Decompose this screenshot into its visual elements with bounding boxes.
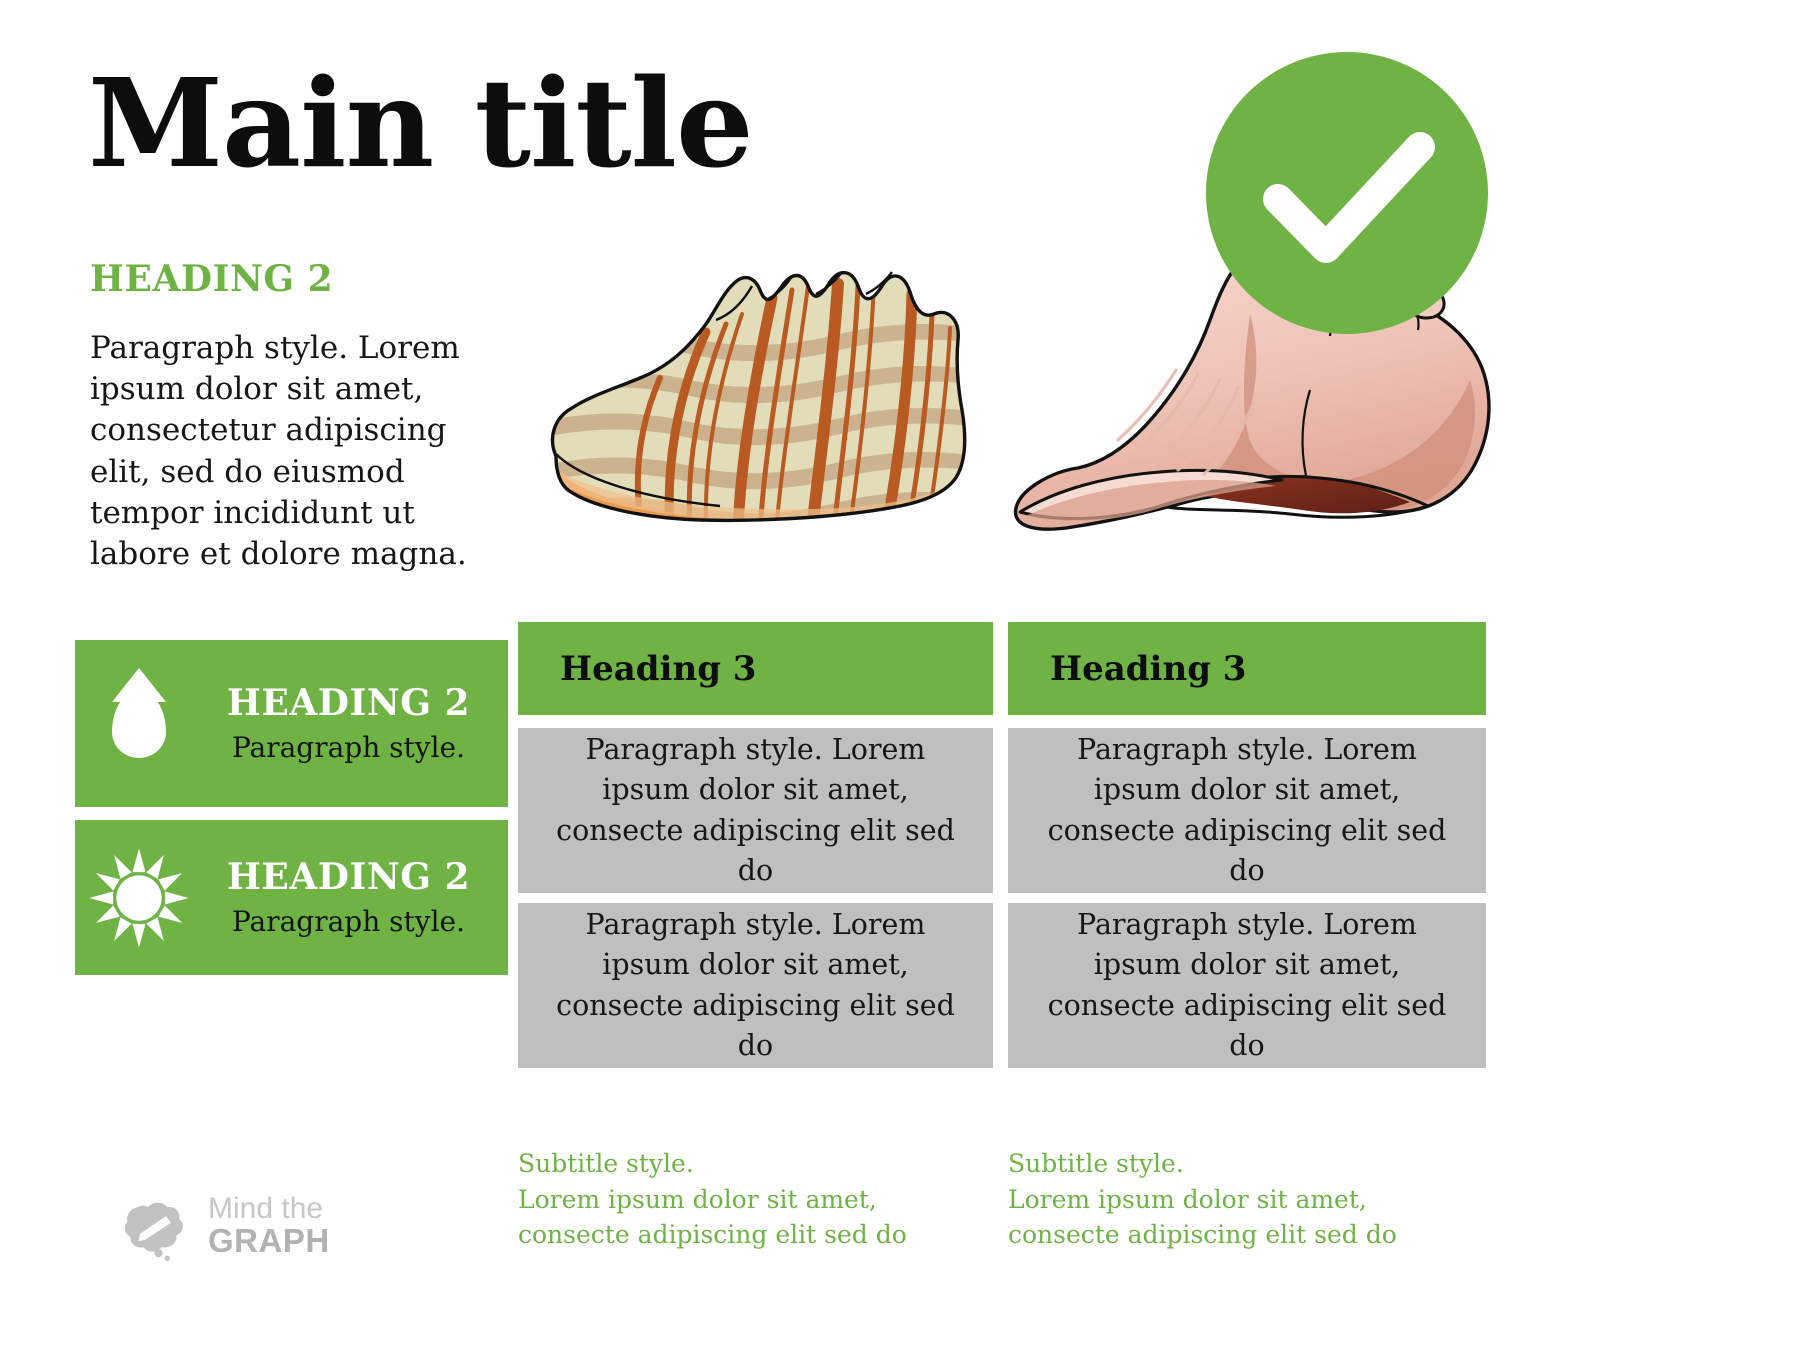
feature-text-group: HEADING 2 Paragraph style. bbox=[203, 857, 508, 937]
feature-heading: HEADING 2 bbox=[203, 857, 498, 898]
page-title: Main title bbox=[88, 62, 753, 184]
feature-heading: HEADING 2 bbox=[203, 683, 498, 724]
column-header-1: Heading 3 bbox=[518, 622, 993, 715]
column-1-subtitle: Subtitle style. Lorem ipsum dolor sit am… bbox=[518, 1146, 993, 1253]
cell-text: Paragraph style. Lorem ipsum dolor sit a… bbox=[518, 905, 993, 1067]
column-1-cell-1: Paragraph style. Lorem ipsum dolor sit a… bbox=[518, 728, 993, 893]
logo-line-2: GRAPH bbox=[208, 1224, 330, 1257]
brain-thought-bubble-icon bbox=[120, 1188, 194, 1262]
feature-row-water[interactable]: HEADING 2 Paragraph style. bbox=[75, 640, 508, 807]
column-1-cell-2: Paragraph style. Lorem ipsum dolor sit a… bbox=[518, 903, 993, 1068]
striped-conch-shell-illustration bbox=[520, 228, 1000, 558]
section-heading-2: HEADING 2 bbox=[90, 258, 333, 300]
logo-line-1: Mind the bbox=[208, 1194, 330, 1224]
cell-text: Paragraph style. Lorem ipsum dolor sit a… bbox=[1008, 730, 1486, 892]
column-2-subtitle: Subtitle style. Lorem ipsum dolor sit am… bbox=[1008, 1146, 1486, 1253]
feature-subtext: Paragraph style. bbox=[203, 905, 498, 938]
intro-paragraph: Paragraph style. Lorem ipsum dolor sit a… bbox=[90, 328, 510, 575]
sun-icon bbox=[75, 844, 203, 952]
feature-subtext: Paragraph style. bbox=[203, 731, 498, 764]
mind-the-graph-logo[interactable]: Mind the GRAPH bbox=[120, 1188, 330, 1262]
water-drop-icon bbox=[75, 690, 203, 758]
cell-text: Paragraph style. Lorem ipsum dolor sit a… bbox=[1008, 905, 1486, 1067]
cell-text: Paragraph style. Lorem ipsum dolor sit a… bbox=[518, 730, 993, 892]
column-header-2: Heading 3 bbox=[1008, 622, 1486, 715]
column-header-label: Heading 3 bbox=[1008, 649, 1246, 689]
feature-row-sun[interactable]: HEADING 2 Paragraph style. bbox=[75, 820, 508, 975]
column-2-cell-1: Paragraph style. Lorem ipsum dolor sit a… bbox=[1008, 728, 1486, 893]
column-header-label: Heading 3 bbox=[518, 649, 756, 689]
check-badge bbox=[1206, 52, 1488, 334]
column-2-cell-2: Paragraph style. Lorem ipsum dolor sit a… bbox=[1008, 903, 1486, 1068]
check-mark-icon bbox=[1206, 52, 1488, 334]
feature-text-group: HEADING 2 Paragraph style. bbox=[203, 683, 508, 763]
logo-wordmark: Mind the GRAPH bbox=[208, 1194, 330, 1257]
